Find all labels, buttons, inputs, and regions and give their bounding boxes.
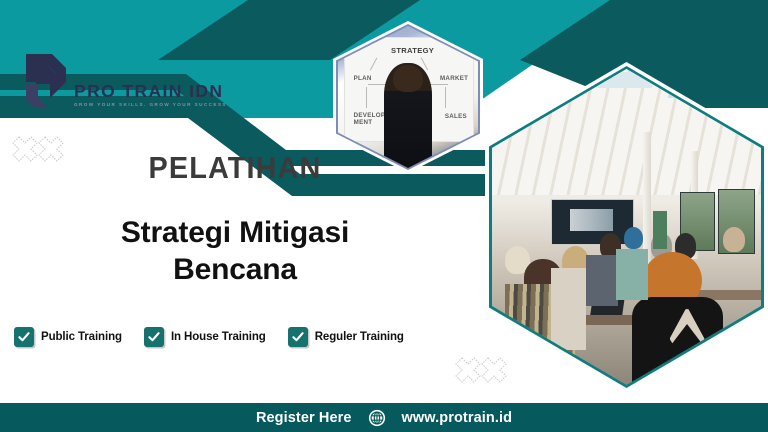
wb-word-strategy: STRATEGY	[391, 46, 434, 55]
checkbox-checked-icon[interactable]	[144, 327, 164, 347]
chair	[551, 268, 586, 350]
attendee-body	[586, 255, 618, 306]
hex-photo-classroom	[485, 62, 768, 392]
page-title: Strategi Mitigasi Bencana	[0, 215, 470, 288]
checkbox-checked-icon[interactable]	[288, 327, 308, 347]
wb-word-plan: PLAN	[354, 75, 372, 82]
website-url[interactable]: www.protrain.id	[402, 410, 513, 426]
presentation-screen	[551, 199, 634, 245]
classroom-seminar-image	[492, 69, 761, 385]
training-option-label: Reguler Training	[315, 331, 404, 343]
ceiling	[492, 69, 761, 195]
training-option-label: In House Training	[171, 331, 266, 343]
page-title-line2: Bencana	[0, 252, 470, 289]
attendee-body	[616, 249, 648, 300]
promo-poster: PRO TRAIN IDN GROW YOUR SKILLS. GROW YOU…	[0, 0, 768, 432]
training-options-list: Public Training In House Training Regule…	[14, 327, 404, 347]
training-option-reguler[interactable]: Reguler Training	[288, 327, 404, 347]
logo-name: PRO TRAIN IDN	[74, 83, 227, 101]
wb-word-market: MARKET	[440, 75, 468, 82]
training-option-public[interactable]: Public Training	[14, 327, 122, 347]
globe-icon	[368, 409, 386, 427]
register-here-cta[interactable]: Register Here	[256, 410, 352, 426]
checkbox-checked-icon[interactable]	[14, 327, 34, 347]
training-option-label: Public Training	[41, 331, 122, 343]
page-kicker: PELATIHAN	[16, 150, 453, 186]
footer-bar: Register Here www.protrain.id	[0, 403, 768, 432]
training-option-in-house[interactable]: In House Training	[144, 327, 266, 347]
page-title-line1: Strategi Mitigasi	[0, 215, 470, 252]
attendee-head	[624, 227, 643, 249]
logo-tagline: GROW YOUR SKILLS. GROW YOUR SUCCESS	[74, 103, 227, 108]
wb-word-sales: SALES	[445, 113, 467, 120]
attendee-head	[723, 227, 745, 252]
wb-word-development: DEVELOP MENT	[354, 112, 387, 126]
brand-logo: PRO TRAIN IDN GROW YOUR SKILLS. GROW YOU…	[18, 52, 227, 114]
protrain-arrow-logo-icon	[18, 52, 70, 114]
presenter-body	[653, 211, 666, 249]
